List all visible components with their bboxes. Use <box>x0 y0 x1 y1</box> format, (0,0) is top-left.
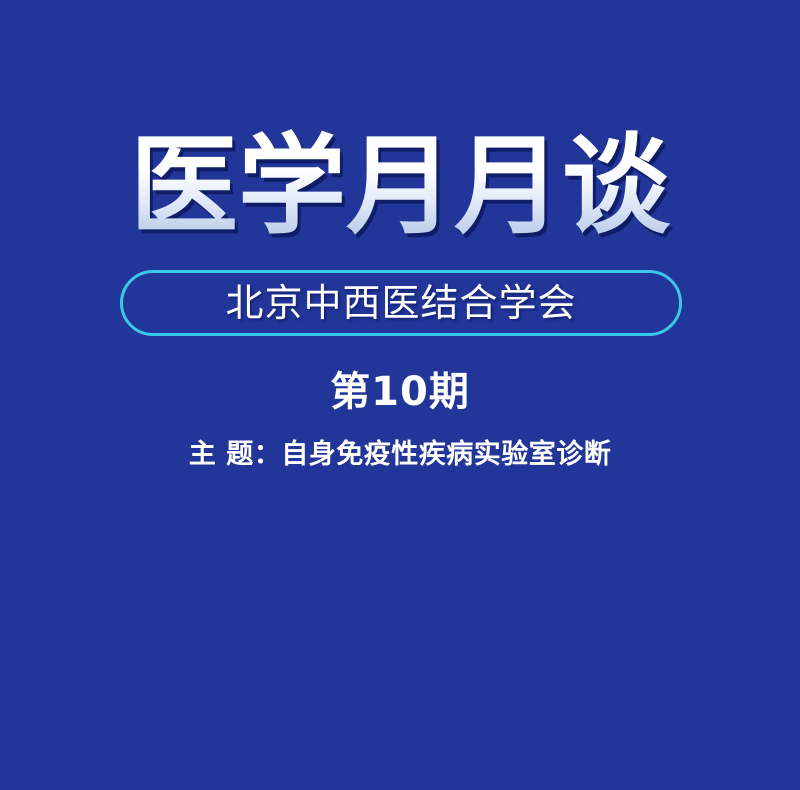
lower-blank-area <box>0 480 800 790</box>
subject-text: 主 题：自身免疫性疾病实验室诊断 <box>189 439 611 470</box>
issue-row: 第10期 <box>0 372 800 412</box>
page-title: 医学月月谈 <box>130 126 670 247</box>
title-block: 医学月月谈 <box>0 126 800 247</box>
issue-number: 第10期 <box>330 369 470 415</box>
poster-canvas: 医学月月谈 北京中西医结合学会 第10期 主 题：自身免疫性疾病实验室诊断 <box>0 0 800 790</box>
organization-name: 北京中西医结合学会 <box>225 284 576 322</box>
subject-row: 主 题：自身免疫性疾病实验室诊断 <box>0 440 800 470</box>
organization-pill: 北京中西医结合学会 <box>120 270 682 336</box>
